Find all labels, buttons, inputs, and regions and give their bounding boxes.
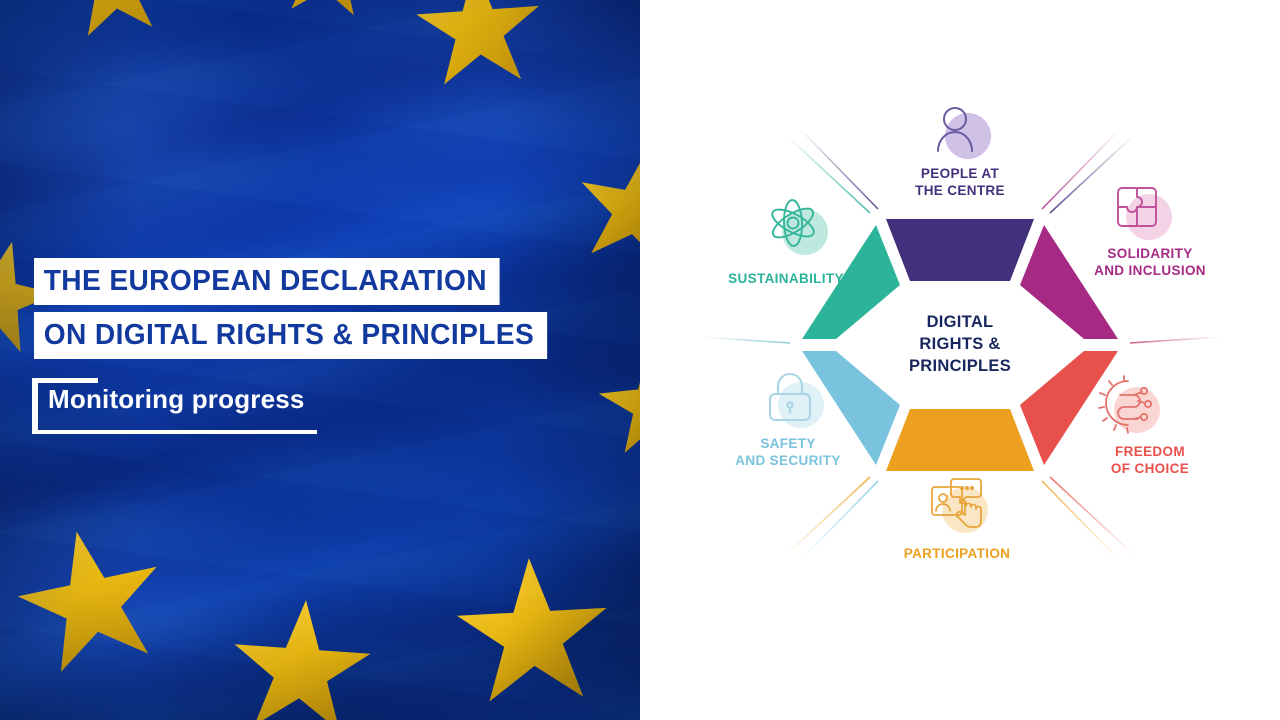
subtitle-frame-bottom-bar — [32, 430, 317, 434]
title-line-2: ON DIGITAL RIGHTS & PRINCIPLES — [34, 312, 547, 359]
label-line-1: SUSTAINABILITY — [696, 270, 876, 287]
subtitle-frame: Monitoring progress — [32, 378, 317, 434]
person-icon — [929, 99, 991, 161]
label-line-1: FREEDOM — [1060, 443, 1240, 460]
diagram-panel: DIGITAL RIGHTS & PRINCIPLES — [640, 0, 1280, 720]
padlock-icon — [762, 368, 824, 430]
label-line-1: SAFETY — [698, 435, 878, 452]
node-label-people-at-the-centre[interactable]: PEOPLE AT THE CENTRE — [880, 165, 1040, 200]
participation-icon — [926, 473, 988, 535]
atom-icon — [766, 195, 828, 257]
node-label-participation[interactable]: PARTICIPATION — [877, 545, 1037, 562]
node-label-sustainability[interactable]: SUSTAINABILITY — [696, 270, 876, 287]
hex-segment-participation[interactable] — [886, 409, 1034, 471]
gear-circuit-icon — [1098, 373, 1160, 435]
puzzle-icon — [1110, 180, 1172, 242]
label-line-1: SOLIDARITY — [1060, 245, 1240, 262]
hexagon-diagram: DIGITAL RIGHTS & PRINCIPLES — [700, 85, 1220, 605]
label-line-2: AND INCLUSION — [1060, 262, 1240, 279]
title-line-1: THE EUROPEAN DECLARATION — [34, 258, 500, 305]
label-line-2: THE CENTRE — [880, 182, 1040, 199]
subtitle-frame-left-bar — [32, 378, 38, 430]
subtitle: Monitoring progress — [48, 385, 305, 414]
hex-segment-solidarity-and-inclusion[interactable] — [1020, 225, 1118, 339]
eu-flag-panel: THE EUROPEAN DECLARATION ON DIGITAL RIGH… — [0, 0, 640, 720]
hex-segment-people-at-the-centre[interactable] — [886, 219, 1034, 281]
label-line-1: PARTICIPATION — [877, 545, 1037, 562]
slide-root: THE EUROPEAN DECLARATION ON DIGITAL RIGH… — [0, 0, 1280, 720]
subtitle-frame-top-bar — [32, 378, 98, 383]
node-label-safety-and-security[interactable]: SAFETY AND SECURITY — [698, 435, 878, 470]
label-line-1: PEOPLE AT — [880, 165, 1040, 182]
page-title: THE EUROPEAN DECLARATION ON DIGITAL RIGH… — [34, 258, 563, 366]
label-line-2: OF CHOICE — [1060, 460, 1240, 477]
node-label-freedom-of-choice[interactable]: FREEDOM OF CHOICE — [1060, 443, 1240, 478]
node-label-solidarity-and-inclusion[interactable]: SOLIDARITY AND INCLUSION — [1060, 245, 1240, 280]
label-line-2: AND SECURITY — [698, 452, 878, 469]
